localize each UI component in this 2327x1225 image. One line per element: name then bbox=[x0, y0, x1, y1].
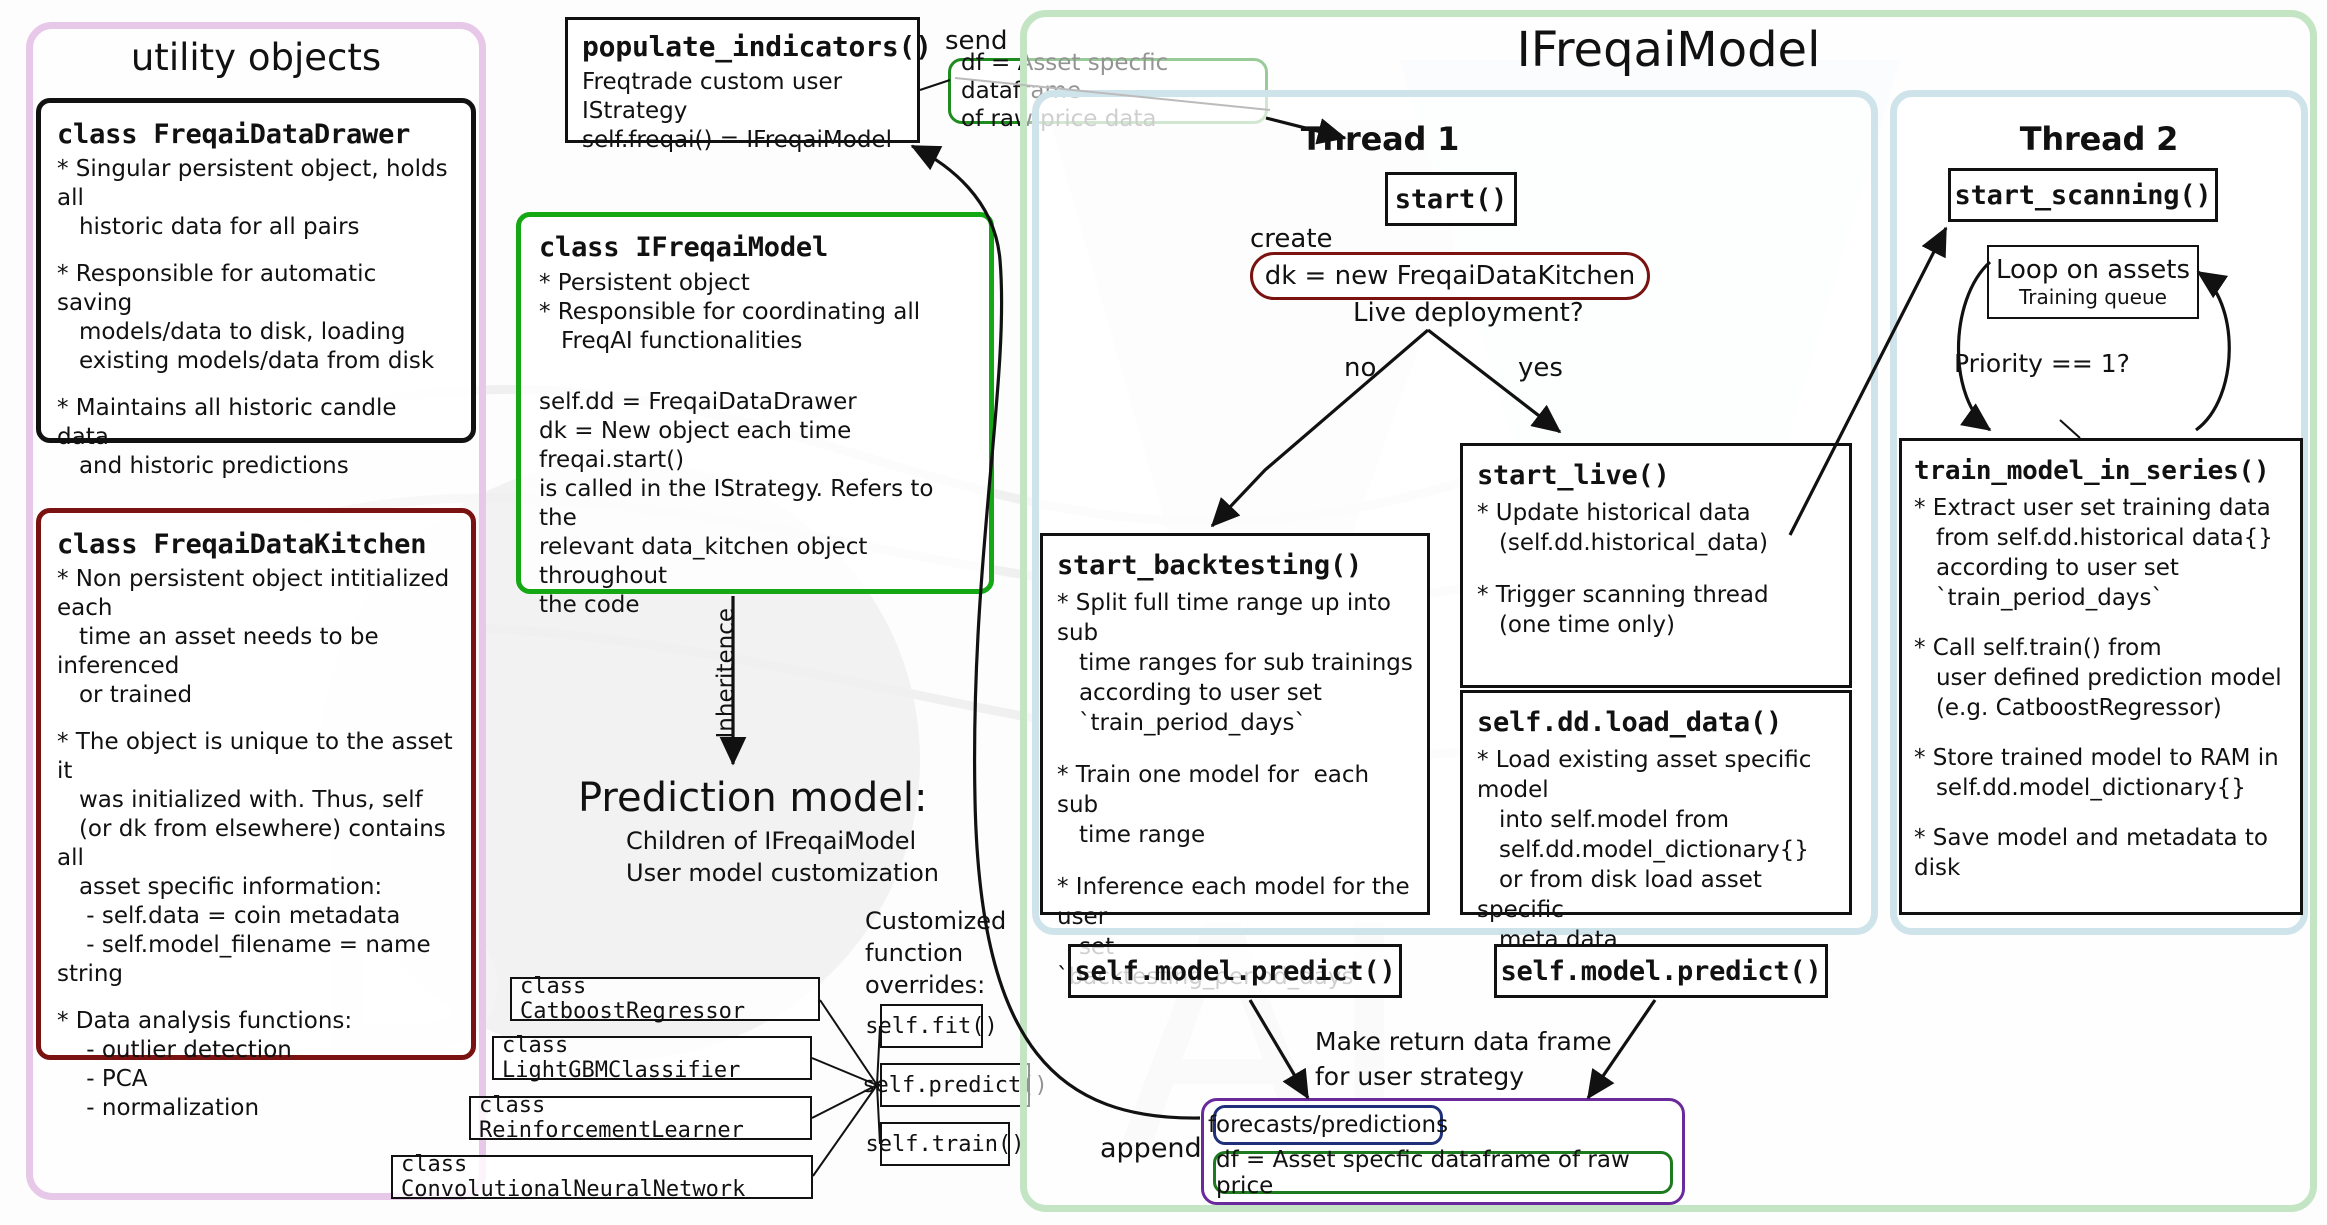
child-class-box: class CatboostRegressor bbox=[510, 977, 820, 1021]
start-scanning-box: start_scanning() bbox=[1948, 168, 2218, 222]
bullet: * The object is unique to the asset it w… bbox=[57, 728, 455, 989]
self-model-predict-label: self.model.predict() bbox=[1500, 956, 1821, 987]
bullet: * Extract user set training data from se… bbox=[1914, 493, 2288, 613]
bullet: * Call self.train() from user defined pr… bbox=[1914, 633, 2288, 723]
prediction-model-title: Prediction model: bbox=[578, 775, 927, 821]
self-model-predict-box-left: self.model.predict() bbox=[1068, 944, 1402, 998]
bullet: * Data analysis functions: - outlier det… bbox=[57, 1007, 455, 1123]
load-data-title: self.dd.load_data() bbox=[1477, 701, 1835, 745]
override-function-box: self.predict() bbox=[880, 1063, 1030, 1107]
branch-no-label: no bbox=[1344, 353, 1376, 383]
bullet: * Non persistent object intitialized eac… bbox=[57, 565, 455, 710]
child-class-label: class ConvolutionalNeuralNetwork bbox=[401, 1152, 811, 1202]
populate-indicators-box: populate_indicators() Freqtrade custom u… bbox=[565, 17, 920, 143]
populate-indicators-title: populate_indicators() bbox=[582, 26, 903, 68]
inheritance-label: Inheritence bbox=[713, 608, 739, 738]
loop-on-assets-box: Loop on assets Training queue bbox=[1987, 245, 2199, 319]
ifreqai-body-line: is called in the IStrategy. Refers to th… bbox=[539, 475, 971, 533]
override-function-box: self.fit() bbox=[880, 1004, 983, 1048]
self-model-predict-box-right: self.model.predict() bbox=[1494, 944, 1828, 998]
bullet: * Store trained model to RAM in self.dd.… bbox=[1914, 743, 2288, 803]
override-function-label: self.fit() bbox=[865, 1014, 997, 1039]
class-freqai-data-drawer-title: class FreqaiDataDrawer bbox=[57, 115, 455, 155]
customized-overrides-line-2: function bbox=[865, 939, 963, 967]
start-backtesting-box: start_backtesting() * Split full time ra… bbox=[1040, 533, 1430, 915]
ifreqai-body-line: the code bbox=[539, 591, 971, 620]
start-live-box: start_live() * Update historical data (s… bbox=[1460, 443, 1852, 688]
child-class-box: class LightGBMClassifier bbox=[492, 1036, 812, 1080]
return-frame-label-line-2: for user strategy bbox=[1315, 1062, 1524, 1091]
child-class-box: class ReinforcementLearner bbox=[469, 1096, 812, 1140]
create-label: create bbox=[1250, 224, 1333, 254]
child-class-box: class ConvolutionalNeuralNetwork bbox=[391, 1155, 813, 1199]
override-function-label: self.train() bbox=[866, 1132, 1025, 1157]
bullet: * Update historical data (self.dd.histor… bbox=[1477, 498, 1835, 558]
self-model-predict-label: self.model.predict() bbox=[1074, 956, 1395, 987]
class-freqai-data-kitchen-title: class FreqaiDataKitchen bbox=[57, 525, 455, 565]
bullet: * Trigger scanning thread (one time only… bbox=[1477, 580, 1835, 640]
panel-thread-1-title: Thread 1 bbox=[1250, 120, 1510, 158]
start-backtesting-title: start_backtesting() bbox=[1057, 544, 1413, 588]
train-model-in-series-title: train_model_in_series() bbox=[1914, 449, 2288, 493]
bullet: * Split full time range up into sub time… bbox=[1057, 588, 1413, 738]
panel-utility-title: utility objects bbox=[26, 36, 486, 79]
dk-new-kitchen-label: dk = new FreqaiDataKitchen bbox=[1265, 261, 1636, 291]
forecasts-predictions-pill: forecasts/predictions bbox=[1213, 1105, 1443, 1145]
populate-indicators-line-2: self.freqai() = IFreqaiModel bbox=[582, 126, 903, 155]
ifreqai-body-line: relevant data_kitchen object throughout bbox=[539, 533, 971, 591]
bullet: * Singular persistent object, holds all … bbox=[57, 155, 455, 242]
class-ifreqai-model: class IFreqaiModel * Persistent object *… bbox=[516, 212, 994, 594]
class-freqai-data-drawer: class FreqaiDataDrawer * Singular persis… bbox=[36, 98, 476, 443]
bullet: * Train one model for each sub time rang… bbox=[1057, 760, 1413, 850]
diagram-canvas: AI B utility objects class FreqaiDataDra… bbox=[0, 0, 2327, 1225]
live-deployment-label: Live deployment? bbox=[1353, 298, 1584, 328]
child-class-label: class ReinforcementLearner bbox=[479, 1093, 810, 1143]
start-box-label: start() bbox=[1395, 184, 1507, 215]
start-box: start() bbox=[1385, 172, 1517, 226]
branch-yes-label: yes bbox=[1518, 353, 1563, 383]
child-class-label: class CatboostRegressor bbox=[520, 974, 818, 1024]
forecasts-predictions-label: forecasts/predictions bbox=[1208, 1112, 1448, 1138]
df-raw-price-label: df = Asset specfic dataframe of raw pric… bbox=[1216, 1147, 1670, 1199]
start-live-title: start_live() bbox=[1477, 454, 1835, 498]
bullet: * Maintains all historic candle data and… bbox=[57, 394, 455, 481]
ifreqai-body-line: dk = New object each time freqai.start() bbox=[539, 417, 971, 475]
df-raw-price-pill-bottom: df = Asset specfic dataframe of raw pric… bbox=[1213, 1151, 1673, 1194]
priority-label: Priority == 1? bbox=[1954, 349, 2130, 378]
populate-indicators-line-1: Freqtrade custom user IStrategy bbox=[582, 68, 903, 126]
append-label: append bbox=[1100, 1133, 1202, 1164]
class-freqai-data-kitchen: class FreqaiDataKitchen * Non persistent… bbox=[36, 508, 476, 1060]
prediction-model-line-2: User model customization bbox=[626, 859, 939, 887]
bullet: * Load existing asset specific model int… bbox=[1477, 745, 1835, 955]
class-ifreqai-model-title: class IFreqaiModel bbox=[539, 227, 971, 269]
customized-overrides-line-1: Customized bbox=[865, 907, 1006, 935]
child-class-label: class LightGBMClassifier bbox=[502, 1033, 810, 1083]
dk-new-kitchen-pill: dk = new FreqaiDataKitchen bbox=[1250, 252, 1650, 300]
return-frame-label-line-1: Make return data frame bbox=[1315, 1027, 1612, 1056]
override-function-box: self.train() bbox=[880, 1122, 1010, 1166]
loop-on-assets-subtitle: Training queue bbox=[2019, 285, 2167, 309]
bullet: * Responsible for automatic saving model… bbox=[57, 260, 455, 376]
train-model-in-series-box: train_model_in_series() * Extract user s… bbox=[1899, 438, 2303, 915]
bullet: * Responsible for coordinating all FreqA… bbox=[539, 298, 971, 356]
customized-overrides-line-3: overrides: bbox=[865, 971, 985, 999]
prediction-model-line-1: Children of IFreqaiModel bbox=[626, 827, 916, 855]
bullet: * Persistent object bbox=[539, 269, 971, 298]
panel-thread-2-title: Thread 2 bbox=[1890, 120, 2308, 158]
bullet: * Save model and metadata to disk bbox=[1914, 823, 2288, 883]
loop-on-assets-title: Loop on assets bbox=[1996, 255, 2190, 285]
load-data-box: self.dd.load_data() * Load existing asse… bbox=[1460, 690, 1852, 915]
ifreqai-body-line: self.dd = FreqaiDataDrawer bbox=[539, 388, 971, 417]
start-scanning-label: start_scanning() bbox=[1955, 180, 2212, 211]
panel-ifreqai-title: IFreqaiModel bbox=[1020, 22, 2317, 78]
